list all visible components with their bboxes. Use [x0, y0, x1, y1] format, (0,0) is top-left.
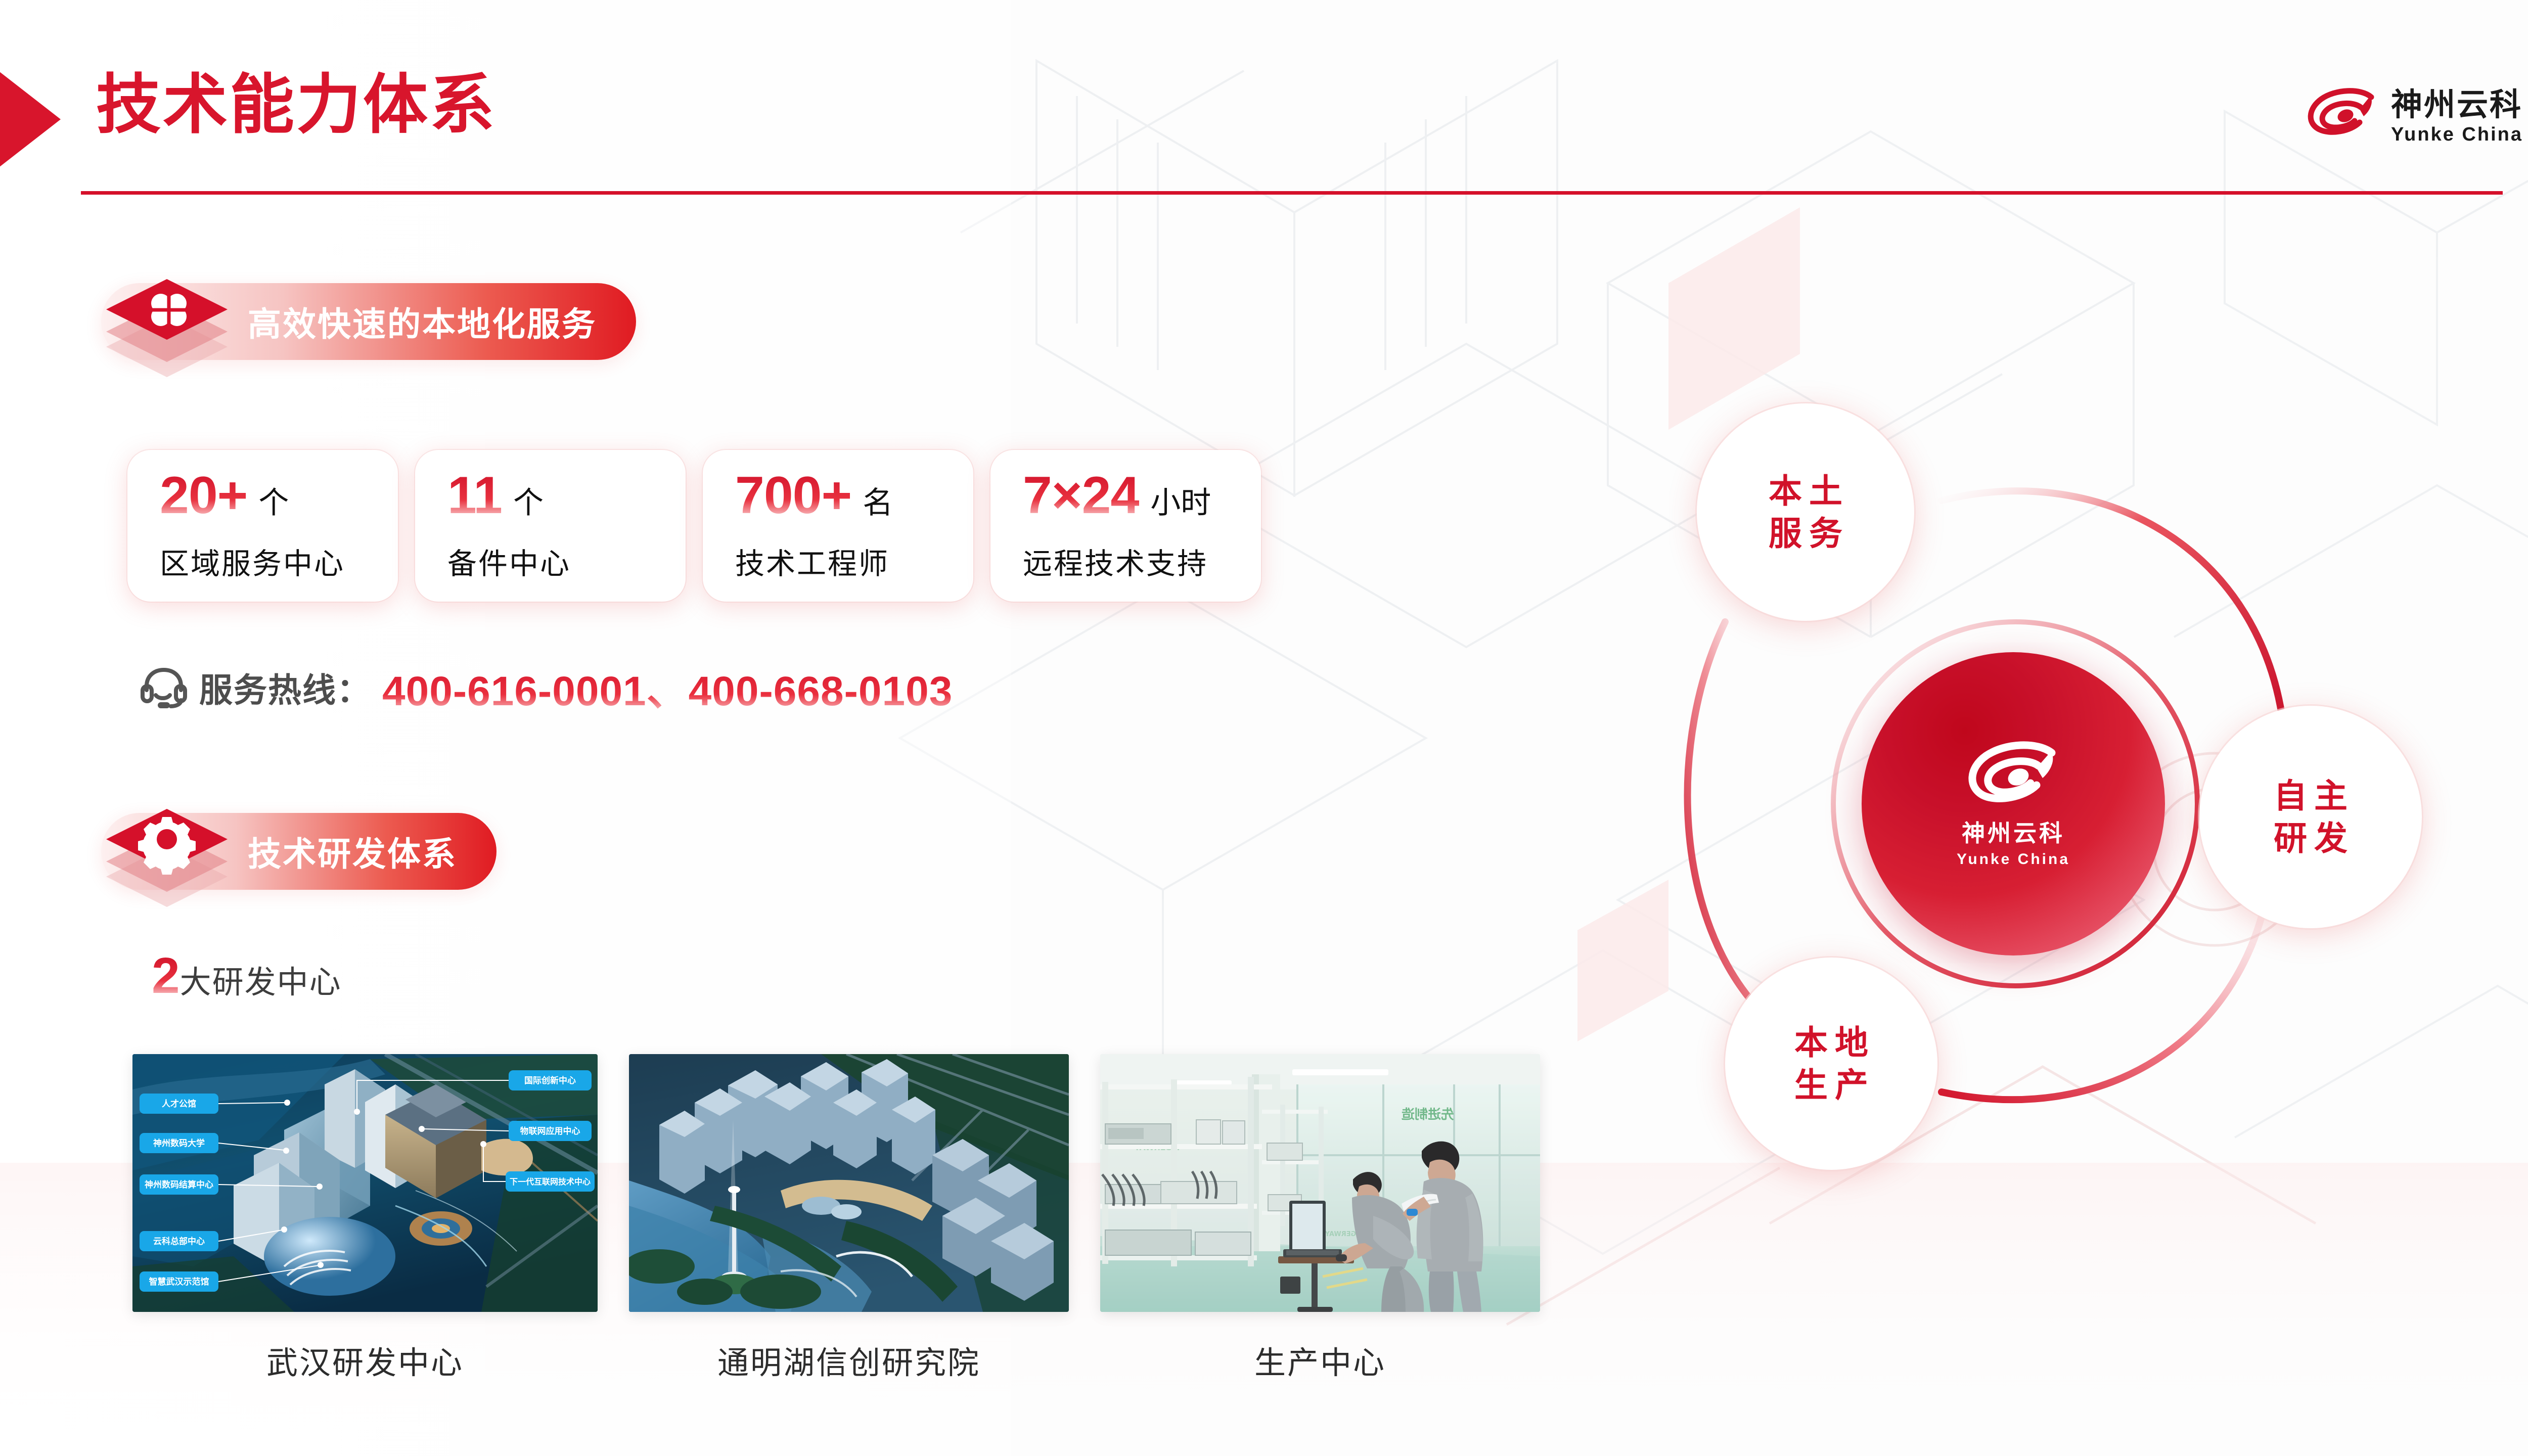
rnd-count-number: 2 — [152, 950, 180, 1001]
svg-text:云科总部中心: 云科总部中心 — [153, 1236, 205, 1247]
node-label-line1: 自主 — [2267, 775, 2355, 817]
stat-number: 700+ — [735, 469, 851, 522]
stat-label: 技术工程师 — [735, 540, 973, 582]
hub-name-en: Yunke China — [1957, 851, 2070, 868]
stat-unit: 个 — [513, 478, 544, 522]
svg-text:物联网应用中心: 物联网应用中心 — [520, 1126, 580, 1136]
stat-label: 备件中心 — [447, 540, 686, 582]
diagram-node-local-service[interactable]: 本土 服务 — [1697, 403, 1914, 621]
badge-label: 技术研发体系 — [248, 827, 457, 876]
stat-value-row: 700+ 名 — [735, 469, 973, 529]
stat-value-row: 20+ 个 — [160, 469, 398, 529]
svg-text:下一代互联网技术中心: 下一代互联网技术中心 — [510, 1177, 591, 1187]
stat-number: 7×24 — [1023, 469, 1139, 522]
node-label-line1: 本土 — [1762, 470, 1849, 512]
stat-cards-row: 20+ 个 区域服务中心 11 个 备件中心 700+ 名 技术工程师 7×24… — [127, 450, 1261, 602]
svg-text:智慧武汉示范馆: 智慧武汉示范馆 — [149, 1277, 209, 1287]
headset-icon — [140, 666, 188, 709]
stat-card: 11 个 备件中心 — [415, 450, 686, 602]
stat-card: 20+ 个 区域服务中心 — [127, 450, 398, 602]
stat-unit: 个 — [258, 478, 289, 522]
stat-number: 20+ — [160, 469, 247, 522]
title-arrow-marker — [0, 70, 61, 169]
svg-text:神州数码结算中心: 神州数码结算中心 — [145, 1179, 213, 1190]
photo-frame — [629, 1054, 1069, 1312]
hotline-numbers: 400-616-0001、400-668-0103 — [382, 657, 953, 717]
svg-text:人才公馆: 人才公馆 — [162, 1099, 196, 1109]
stat-number: 11 — [447, 469, 502, 522]
rnd-center-item: 先进制造 TIGERWAY TIGERWAY — [1100, 1054, 1540, 1383]
service-hotline: 服务热线： 400-616-0001、400-668-0103 — [140, 657, 953, 717]
title-divider-rule — [81, 191, 2503, 195]
badge-label: 高效快速的本地化服务 — [248, 297, 597, 346]
section-badge-local-service: 高效快速的本地化服务 — [101, 283, 636, 360]
rnd-center-count: 2 大研发中心 — [152, 950, 342, 1002]
stat-label: 区域服务中心 — [160, 540, 398, 582]
svg-text:神州数码大学: 神州数码大学 — [153, 1138, 205, 1149]
rnd-count-suffix: 大研发中心 — [180, 957, 342, 1002]
node-label-line2: 服务 — [1762, 512, 1849, 555]
brand-name-cn: 神州云科 — [2391, 89, 2523, 121]
rnd-center-photo-row: 人才公馆 神州数码大学 神州数码结算中心 — [132, 1054, 1540, 1383]
page-title: 技术能力体系 — [96, 65, 496, 146]
rnd-center-item: 通明湖信创研究院 — [629, 1054, 1069, 1383]
hub-name-cn: 神州云科 — [1962, 822, 2065, 845]
node-label-line2: 研发 — [2267, 817, 2355, 859]
photo-caption: 武汉研发中心 — [266, 1337, 464, 1383]
section-badge-rnd-system: 技术研发体系 — [101, 813, 496, 890]
brand-name-en: Yunke China — [2391, 125, 2523, 144]
svg-text:国际创新中心: 国际创新中心 — [524, 1075, 576, 1086]
layered-diamond-flower-icon — [101, 270, 233, 386]
diagram-hub: 神州云科 Yunke China — [1862, 652, 2165, 955]
rnd-center-item: 人才公馆 神州数码大学 神州数码结算中心 — [132, 1054, 598, 1383]
photo-caption: 通明湖信创研究院 — [717, 1337, 980, 1383]
photo-frame: 先进制造 TIGERWAY TIGERWAY — [1100, 1054, 1540, 1312]
wuhan-rnd-aerial-render: 人才公馆 神州数码大学 神州数码结算中心 — [132, 1054, 598, 1312]
node-label-line1: 本地 — [1787, 1021, 1875, 1064]
stat-unit: 名 — [863, 478, 893, 522]
layered-diamond-gear-icon — [101, 800, 233, 916]
diagram-node-local-production[interactable]: 本地 生产 — [1725, 958, 1937, 1170]
stat-value-row: 7×24 小时 — [1023, 469, 1261, 529]
stat-label: 远程技术支持 — [1023, 540, 1261, 582]
stat-value-row: 11 个 — [447, 469, 686, 529]
node-label-line2: 生产 — [1787, 1064, 1875, 1106]
stat-card: 700+ 名 技术工程师 — [703, 450, 973, 602]
tongminghu-aerial-render — [629, 1054, 1069, 1312]
production-center-photo: 先进制造 TIGERWAY TIGERWAY — [1100, 1054, 1540, 1312]
capability-circular-diagram: 神州云科 Yunke China 本土 服务 自主 研发 本地 生产 — [1638, 384, 2528, 1274]
photo-caption: 生产中心 — [1254, 1337, 1386, 1383]
diagram-node-self-rnd[interactable]: 自主 研发 — [2199, 706, 2422, 928]
brand-logo: 神州云科 Yunke China — [2304, 87, 2523, 147]
stat-unit: 小时 — [1150, 478, 1211, 522]
yunke-swirl-icon — [1963, 740, 2064, 815]
stat-card: 7×24 小时 远程技术支持 — [990, 450, 1261, 602]
yunke-swirl-icon — [2304, 87, 2380, 147]
hotline-label: 服务热线： — [199, 663, 371, 712]
photo-frame: 人才公馆 神州数码大学 神州数码结算中心 — [132, 1054, 598, 1312]
